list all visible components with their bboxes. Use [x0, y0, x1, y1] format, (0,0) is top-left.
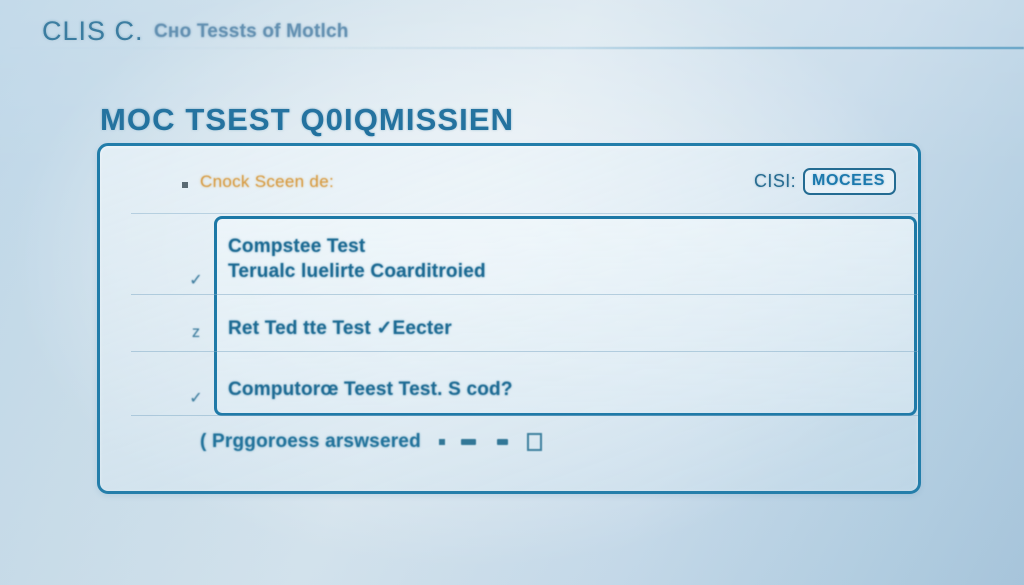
bullet-icon	[182, 182, 188, 188]
quiz-card: Cnock Sceen de: CISI: MOCEES ✓ z ✓ Comps…	[97, 143, 921, 494]
row-marker-gutter: ✓ z ✓	[178, 216, 214, 416]
header-subtitle: Cно Tessts of Motlch	[154, 21, 349, 42]
row-marker-check-1: ✓	[178, 270, 214, 290]
row-marker-check-2: ✓	[178, 388, 214, 408]
progress-label: ( Prggoroess arswsered	[200, 431, 421, 453]
question-row-1-line1: Compstee Test	[228, 234, 486, 259]
page-title: MOC TSEST Q0IQMISSIEN	[100, 102, 514, 138]
subtitle-divider	[131, 213, 918, 214]
row-divider-3	[131, 415, 918, 416]
question-row-3[interactable]: Computorœ Teest Test. S cod?	[228, 377, 513, 402]
progress-mark-dash2-icon	[497, 439, 508, 445]
cisi-status-group: CISI: MOCEES	[754, 168, 896, 195]
progress-mark-dash-icon	[461, 439, 476, 445]
row-divider-1	[131, 294, 918, 295]
check-screen-label: Cnock Sceen de:	[200, 172, 334, 192]
question-row-1[interactable]: Compstee Test Terualc luelirte Coarditro…	[228, 234, 486, 284]
app-background: CLIS C. Cно Tessts of Motlch MOC TSEST Q…	[0, 0, 1024, 585]
row-divider-2	[131, 351, 918, 352]
progress-mark-box-icon	[527, 433, 542, 451]
brand-title: CLIS C.	[42, 16, 144, 46]
question-row-1-line2: Terualc luelirte Coarditroied	[228, 259, 486, 284]
progress-mark-dot-icon	[439, 439, 445, 445]
status-badge[interactable]: MOCEES	[803, 168, 896, 195]
question-row-2-line1: Ret Ted tte Test ✓Eecter	[228, 316, 452, 341]
question-row-3-line1: Computorœ Teest Test. S cod?	[228, 377, 513, 402]
cisi-label: CISI:	[754, 171, 796, 192]
progress-footer: ( Prggoroess arswsered	[200, 431, 542, 453]
header-divider	[0, 47, 1024, 49]
question-row-2[interactable]: Ret Ted tte Test ✓Eecter	[228, 316, 452, 341]
row-marker-z: z	[178, 324, 214, 342]
